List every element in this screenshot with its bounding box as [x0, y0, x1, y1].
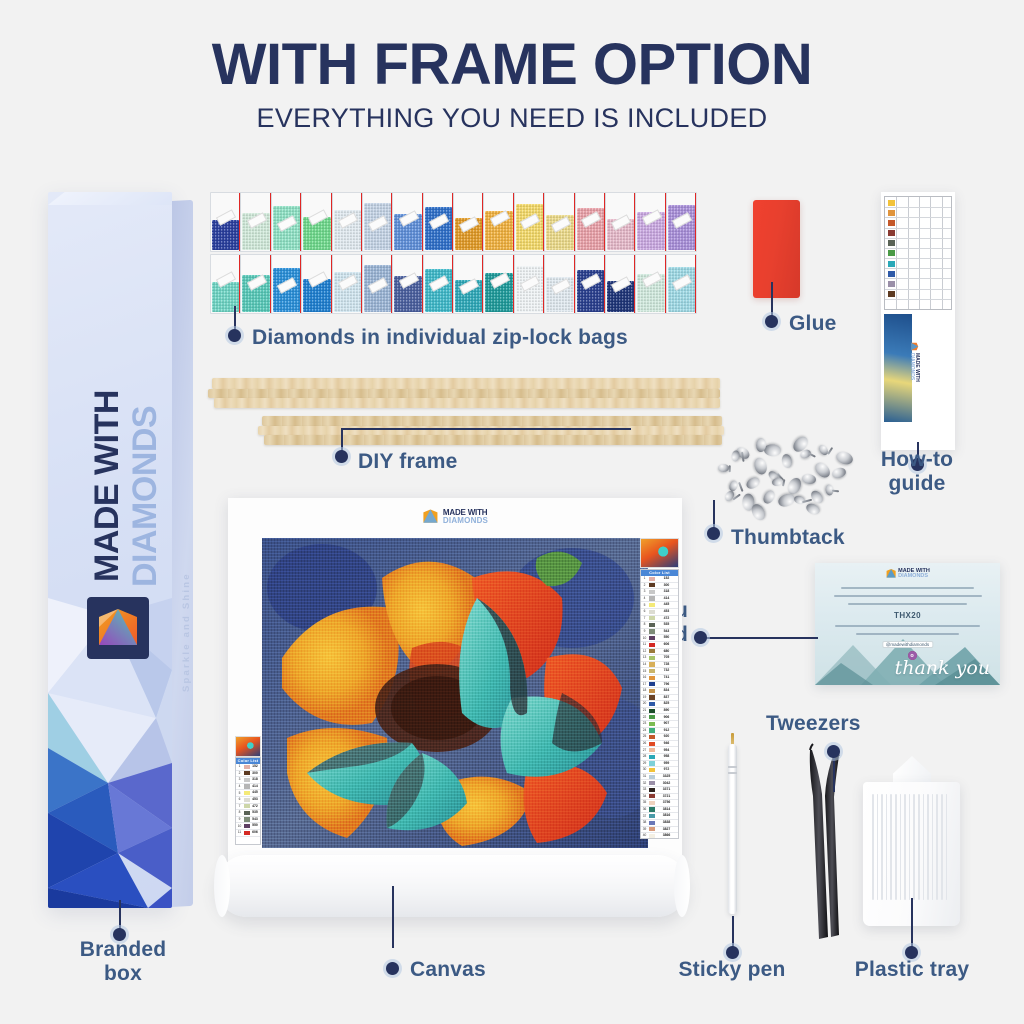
ziplock-bag: [423, 192, 454, 252]
color-list-row: 15732: [641, 668, 678, 675]
color-list-row: 13705: [641, 655, 678, 662]
color-list-left: Color List115223003318441454456453747285…: [235, 757, 261, 845]
color-list-row: 373816: [641, 813, 678, 820]
color-list-row: 4414: [236, 784, 260, 791]
guide-table-swatch: [888, 240, 895, 246]
guide-table-column: [930, 197, 931, 309]
canvas-artwork: [262, 538, 648, 848]
thumbtack-pile: [706, 434, 856, 522]
ziplock-bag: [666, 192, 697, 252]
leader-diyframe: [341, 428, 343, 452]
color-list-row: 27954: [641, 747, 678, 754]
canvas-thumbnail-left: [235, 736, 261, 757]
ty-brand-logo: MADE WITH DIAMONDS: [885, 568, 930, 579]
box-brand-line2: DIAMONDS: [128, 406, 162, 587]
howto-guide-sheet: MADE WITH DIAMONDS: [881, 192, 955, 450]
color-list-row: 7472: [641, 616, 678, 623]
guide-table-column: [942, 197, 943, 309]
ziplock-bag: [605, 254, 636, 314]
label-sticky-pen: Sticky pen: [672, 958, 792, 982]
thumbtack: [744, 475, 761, 491]
tray-rib: [932, 794, 934, 900]
color-list-row: 21890: [641, 708, 678, 715]
ziplock-bag: [483, 254, 514, 314]
color-list-row: 393827: [641, 827, 678, 834]
color-list-row: 8535: [641, 622, 678, 629]
label-plastic-tray: Plastic tray: [852, 958, 972, 982]
ziplock-bag: [301, 254, 332, 314]
color-list-row: 3318: [236, 777, 260, 784]
page-subtitle: EVERYTHING YOU NEED IS INCLUDED: [0, 105, 1024, 132]
dot-glue: [765, 315, 778, 328]
color-list-row: 9543: [236, 817, 260, 824]
guide-table-column: [919, 197, 920, 309]
guide-table-swatch: [888, 281, 895, 287]
tray-rib: [877, 794, 879, 900]
tray-rib: [881, 794, 883, 900]
color-list-row: 26946: [641, 741, 678, 748]
color-list-row: 10550: [236, 823, 260, 830]
ziplock-bag: [271, 254, 302, 314]
color-list-right: Color List115223003318441454456453747285…: [640, 569, 679, 839]
thumbtack-pin: [728, 465, 730, 472]
canvas-watermark-line2: DIAMONDS: [443, 517, 488, 525]
tray-rib: [918, 794, 920, 900]
color-list-row: 10550: [641, 635, 678, 642]
dot-diamonds: [228, 329, 241, 342]
ziplock-bag: [210, 192, 241, 252]
dot-thumbtack: [707, 527, 720, 540]
color-list-row: 363814: [641, 807, 678, 814]
guide-table-swatch: [888, 210, 895, 216]
ty-discount-code: THX20: [815, 611, 1000, 620]
ziplock-bag: [332, 254, 363, 314]
thumbtack: [831, 466, 847, 480]
tray-rib: [904, 794, 906, 900]
ziplock-bag: [635, 254, 666, 314]
ziplock-bag: [271, 192, 302, 252]
guide-table-swatch: [888, 220, 895, 226]
guide-table-row: [885, 278, 951, 279]
tray-rib: [941, 794, 943, 900]
ziplock-bag: [240, 192, 271, 252]
ziplock-bag: [362, 192, 393, 252]
ziplock-bag: [392, 192, 423, 252]
ziplock-bag: [514, 254, 545, 314]
ziplock-bag: [544, 254, 575, 314]
tray-rib: [900, 794, 902, 900]
sticky-pen: [728, 744, 737, 914]
leader-thankyou: [700, 637, 818, 639]
color-list-row: 29959: [641, 761, 678, 768]
ty-brand-line2: DIAMONDS: [898, 574, 930, 579]
thank-you-card: MADE WITH DIAMONDS THX20 @madewithdiamon…: [815, 563, 1000, 685]
guide-table-column: [908, 197, 909, 309]
guide-table-swatch: [888, 261, 895, 267]
glue-bottle: [753, 200, 800, 298]
guide-photo: [884, 314, 912, 422]
ziplock-bag: [453, 254, 484, 314]
color-list-row: 12680: [641, 649, 678, 656]
color-list-row: 17796: [641, 682, 678, 689]
guide-table-swatch: [888, 291, 895, 297]
ziplock-bag: [453, 192, 484, 252]
tray-rib: [923, 794, 925, 900]
tray-rib: [913, 794, 915, 900]
canvas-roll: [216, 855, 688, 917]
guide-table-row: [885, 207, 951, 208]
ziplock-bag: [514, 192, 545, 252]
label-diamonds: Diamonds in individual zip-lock bags: [252, 326, 628, 350]
ziplock-bag: [666, 254, 697, 314]
color-list-row: 2300: [236, 771, 260, 778]
thumbtack: [781, 453, 794, 469]
color-list-row: 5445: [641, 602, 678, 609]
color-list-row: 22906: [641, 714, 678, 721]
thumbtack: [834, 449, 854, 466]
tray-rib: [936, 794, 938, 900]
ziplock-bag: [575, 254, 606, 314]
color-list-row: 9543: [641, 629, 678, 636]
leader-stickypen: [732, 916, 734, 950]
ty-script-text: thank you: [895, 661, 990, 677]
thumbtack-pin: [832, 489, 839, 491]
diamond-logo-icon: [87, 597, 149, 659]
guide-table-row: [885, 268, 951, 269]
label-howto-guide: How-to guide: [858, 448, 976, 496]
color-list-row: 8535: [236, 810, 260, 817]
color-list-row: 2300: [641, 583, 678, 590]
color-list-row: 343721: [641, 794, 678, 801]
color-list-row: 19837: [641, 695, 678, 702]
canvas-thumbnail-right: [640, 538, 679, 568]
ziplock-bag: [332, 192, 363, 252]
leader-thumbtack: [713, 500, 715, 530]
box-brand-line1: MADE WITH: [90, 390, 124, 582]
canvas-sheet: MADE WITH DIAMONDS: [228, 498, 682, 868]
dot-tweezers: [827, 745, 840, 758]
label-glue: Glue: [789, 312, 836, 336]
thumbtack: [731, 450, 741, 462]
color-list-row: 23907: [641, 721, 678, 728]
thumbtack-pin: [738, 482, 743, 492]
tray-rib: [886, 794, 888, 900]
color-list-row: 20825: [641, 701, 678, 708]
guide-table-row: [885, 238, 951, 239]
guide-brand-line1: MADE WITH: [915, 353, 920, 382]
ziplock-bag: [575, 192, 606, 252]
guide-table-row: [885, 228, 951, 229]
thumbtack: [761, 488, 777, 505]
label-tweezers: Tweezers: [766, 712, 861, 736]
color-list-row: 18834: [641, 688, 678, 695]
guide-table-row: [885, 248, 951, 249]
dot-thankyou: [694, 631, 707, 644]
thumbtack-pin: [827, 447, 833, 455]
ziplock-bag: [301, 192, 332, 252]
ziplock-bag: [483, 192, 514, 252]
thumbtack-pin: [782, 479, 785, 486]
color-list-row: 353756: [641, 800, 678, 807]
color-list-row: 5445: [236, 790, 260, 797]
color-list-row: 313325: [641, 774, 678, 781]
ziplock-bags-row-1: [210, 192, 696, 250]
tray-rib: [895, 794, 897, 900]
thumbtack: [752, 456, 768, 476]
color-list-row: 25920: [641, 734, 678, 741]
ty-handle: @madewithdiamonds: [882, 641, 933, 648]
thumbtack: [801, 473, 817, 485]
guide-table-swatch: [888, 200, 895, 206]
ziplock-bag: [635, 192, 666, 252]
leader-glue: [771, 282, 773, 318]
label-thumbtack: Thumbtack: [731, 526, 845, 550]
tray-rib: [890, 794, 892, 900]
tweezers: [795, 742, 855, 942]
leader-canvas: [392, 886, 394, 948]
ziplock-bag: [605, 192, 636, 252]
guide-brand-logo: MADE WITH DIAMONDS: [910, 342, 919, 382]
branded-box: MADE WITH DIAMONDS: [48, 192, 198, 922]
color-list-row: 403866: [641, 833, 678, 839]
color-list-row: 323042: [641, 780, 678, 787]
guide-table-column: [896, 197, 897, 309]
guide-table-row: [885, 289, 951, 290]
tray-rib: [927, 794, 929, 900]
thumbtack: [749, 502, 768, 523]
color-list-row: 7472: [236, 804, 260, 811]
infographic-root: WITH FRAME OPTION EVERYTHING YOU NEED IS…: [0, 0, 1024, 1024]
canvas-watermark-logo: MADE WITH DIAMONDS: [422, 508, 488, 525]
leader-diyframe-h: [341, 428, 631, 430]
thumbtack: [763, 443, 781, 457]
color-list-row: 1152: [236, 764, 260, 771]
guide-table-row: [885, 299, 951, 300]
color-list-row: 30972: [641, 767, 678, 774]
guide-table-swatch: [888, 250, 895, 256]
color-list-row: 383838: [641, 820, 678, 827]
thumbtack: [718, 464, 729, 472]
guide-table-row: [885, 258, 951, 259]
ziplock-bag: [210, 254, 241, 314]
color-list-row: 14728: [641, 662, 678, 669]
leader-tray: [911, 898, 913, 948]
color-list-row: 1152: [641, 576, 678, 583]
box-tagline: Sparkle and Shine: [181, 572, 192, 692]
guide-table-row: [885, 217, 951, 218]
ziplock-bag: [423, 254, 454, 314]
ziplock-bag: [240, 254, 271, 314]
tray-rib: [909, 794, 911, 900]
color-list-row: 28958: [641, 754, 678, 761]
tray-rib: [946, 794, 948, 900]
color-list-row: 4414: [641, 596, 678, 603]
color-list-row: 6453: [641, 609, 678, 616]
label-branded-box: Branded box: [58, 938, 188, 986]
dot-canvas: [386, 962, 399, 975]
ziplock-bag: [392, 254, 423, 314]
color-list-row: 24912: [641, 728, 678, 735]
guide-brand-line2: DIAMONDS: [910, 353, 915, 382]
color-list-row: 16741: [641, 675, 678, 682]
label-canvas: Canvas: [410, 958, 486, 982]
tray-rib: [872, 794, 874, 900]
color-list-row: 11606: [641, 642, 678, 649]
ziplock-bag: [362, 254, 393, 314]
ziplock-bags-row-2: [210, 254, 696, 312]
page-title: WITH FRAME OPTION: [0, 36, 1024, 94]
dot-diyframe: [335, 450, 348, 463]
label-diy-frame: DIY frame: [358, 450, 457, 474]
guide-table-swatch: [888, 271, 895, 277]
guide-table-swatch: [888, 230, 895, 236]
color-list-row: 333371: [641, 787, 678, 794]
leader-tweezers: [833, 758, 835, 792]
color-list-row: 11606: [236, 830, 260, 837]
color-list-row: 3318: [641, 589, 678, 596]
ziplock-bag: [544, 192, 575, 252]
color-list-row: 6453: [236, 797, 260, 804]
